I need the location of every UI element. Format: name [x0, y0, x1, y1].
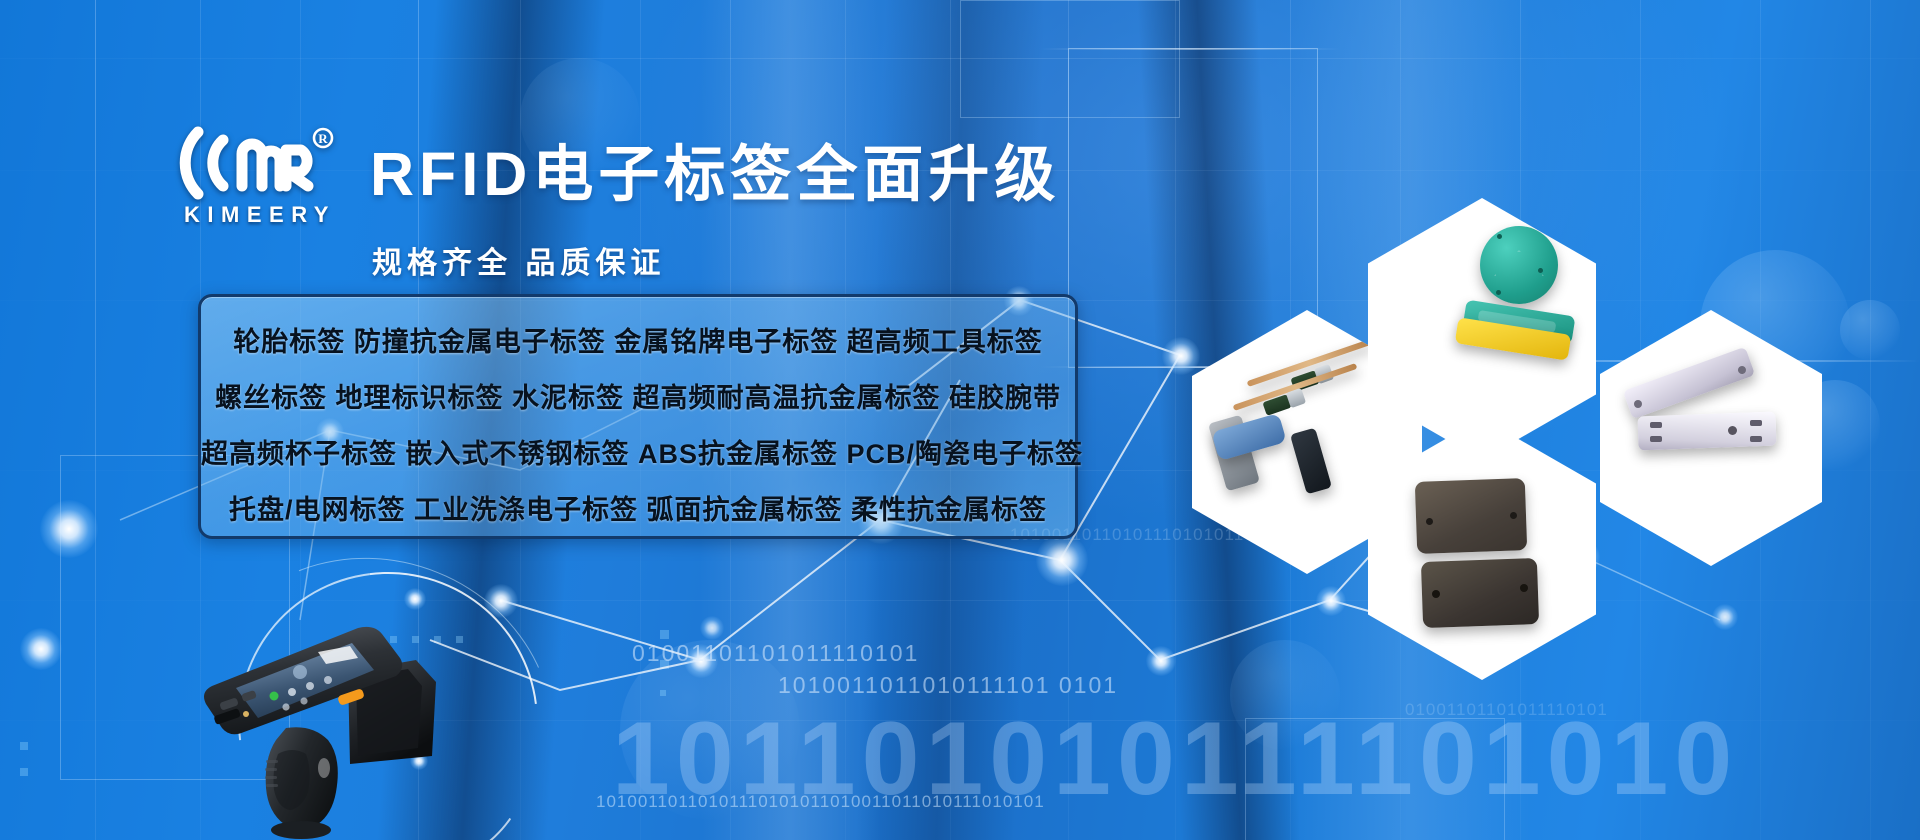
company-logo[interactable]: R KIMEERY — [168, 120, 348, 230]
page-title-text: RFID电子标签全面升级 — [370, 140, 1060, 208]
binary-line-big: 101101010111101010 — [612, 700, 1738, 819]
binary-line-1: 01001101101011110101 — [632, 640, 919, 667]
product-list-panel: 轮胎标签 防撞抗金属电子标签 金属铭牌电子标签 超高频工具标签 螺丝标签 地理标… — [198, 294, 1078, 539]
product-row: 轮胎标签 防撞抗金属电子标签 金属铭牌电子标签 超高频工具标签 — [201, 320, 1075, 359]
binary-line-5: 01001101101011110101 — [1405, 700, 1608, 720]
page-subtitle: 规格齐全 品质保证 — [372, 238, 665, 282]
handheld-rfid-reader-icon — [200, 608, 470, 840]
product-row: 螺丝标签 地理标识标签 水泥标签 超高频耐高温抗金属标签 硅胶腕带 — [201, 376, 1075, 415]
product-row: 托盘/电网标签 工业洗涤电子标签 弧面抗金属标签 柔性抗金属标签 — [201, 488, 1075, 527]
rfid-promo-banner: 01001101101011110101 1010011011010111101… — [0, 0, 1920, 840]
registered-mark-icon: R — [314, 129, 332, 147]
hex-white-anti-metal-tags[interactable] — [1600, 310, 1822, 566]
handheld-rfid-reader[interactable] — [200, 608, 470, 840]
kimeery-signal-logo-icon: R — [168, 120, 348, 206]
product-row: 超高频杯子标签 嵌入式不锈钢标签 ABS抗金属标签 PCB/陶瓷电子标签 — [201, 432, 1075, 471]
binary-line-2: 1010011011010111101 0101 — [778, 672, 1118, 699]
svg-text:R: R — [318, 131, 328, 146]
page-title: RFID电子标签全面升级 — [370, 124, 1060, 213]
brand-name: KIMEERY — [172, 202, 348, 228]
binary-line-3: 1010011011010111010101101001101101011101… — [596, 792, 1045, 812]
